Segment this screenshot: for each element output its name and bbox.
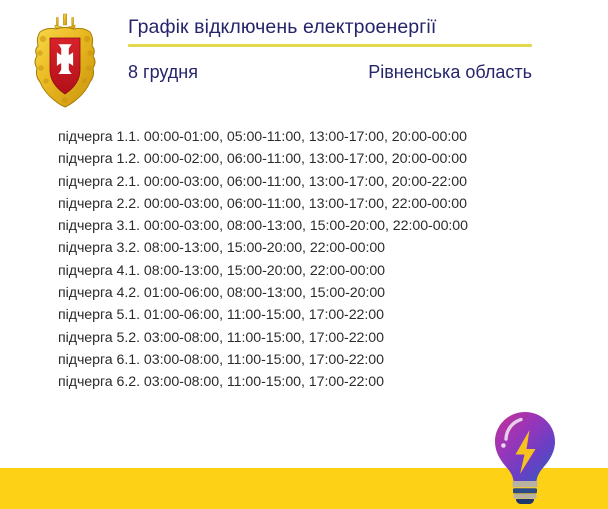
queue-time-ranges: 03:00-08:00, 11:00-15:00, 17:00-22:00 [144, 330, 384, 346]
queue-label: підчерга 3.2. [58, 240, 140, 256]
queue-time-ranges: 00:00-01:00, 05:00-11:00, 13:00-17:00, 2… [144, 129, 467, 145]
queue-label: підчерга 1.1. [58, 129, 140, 145]
outage-schedule-card: Графік відключень електроенергії 8 грудн… [0, 0, 608, 509]
rivne-oblast-coat-of-arms-icon [26, 8, 104, 112]
queue-label: підчерга 6.1. [58, 352, 140, 368]
queue-time-ranges: 08:00-13:00, 15:00-20:00, 22:00-00:00 [144, 263, 385, 279]
queue-time-ranges: 00:00-03:00, 06:00-11:00, 13:00-17:00, 2… [144, 174, 467, 190]
queue-label: підчерга 3.1. [58, 218, 140, 234]
schedule-row: підчерга 5.1. 01:00-06:00, 11:00-15:00, … [58, 304, 558, 326]
page-title: Графік відключень електроенергії [128, 14, 538, 40]
queue-label: підчерга 2.2. [58, 196, 140, 212]
schedule-row: підчерга 6.1. 03:00-08:00, 11:00-15:00, … [58, 349, 558, 371]
outage-schedule-list: підчерга 1.1. 00:00-01:00, 05:00-11:00, … [58, 126, 558, 394]
schedule-row: підчерга 5.2. 03:00-08:00, 11:00-15:00, … [58, 327, 558, 349]
title-underline-rule [128, 44, 532, 47]
schedule-row: підчерга 2.1. 00:00-03:00, 06:00-11:00, … [58, 171, 558, 193]
schedule-row: підчерга 2.2. 00:00-03:00, 06:00-11:00, … [58, 193, 558, 215]
queue-label: підчерга 4.1. [58, 263, 140, 279]
region-name: Рівненська область [368, 62, 532, 83]
queue-time-ranges: 00:00-03:00, 08:00-13:00, 15:00-20:00, 2… [144, 218, 468, 234]
schedule-row: підчерга 1.1. 00:00-01:00, 05:00-11:00, … [58, 126, 558, 148]
lightbulb-with-bolt-icon [488, 408, 562, 504]
schedule-date: 8 грудня [128, 62, 198, 83]
queue-time-ranges: 00:00-03:00, 06:00-11:00, 13:00-17:00, 2… [144, 196, 467, 212]
queue-label: підчерга 4.2. [58, 285, 140, 301]
queue-label: підчерга 5.2. [58, 330, 140, 346]
queue-time-ranges: 00:00-02:00, 06:00-11:00, 13:00-17:00, 2… [144, 151, 467, 167]
header-text-block: Графік відключень електроенергії [128, 14, 538, 40]
schedule-row: підчерга 4.1. 08:00-13:00, 15:00-20:00, … [58, 260, 558, 282]
schedule-row: підчерга 4.2. 01:00-06:00, 08:00-13:00, … [58, 282, 558, 304]
queue-time-ranges: 01:00-06:00, 11:00-15:00, 17:00-22:00 [144, 307, 384, 323]
schedule-row: підчерга 1.2. 00:00-02:00, 06:00-11:00, … [58, 148, 558, 170]
queue-time-ranges: 03:00-08:00, 11:00-15:00, 17:00-22:00 [144, 374, 384, 390]
schedule-row: підчерга 3.1. 00:00-03:00, 08:00-13:00, … [58, 215, 558, 237]
queue-label: підчерга 5.1. [58, 307, 140, 323]
schedule-row: підчерга 3.2. 08:00-13:00, 15:00-20:00, … [58, 237, 558, 259]
subheader: 8 грудня Рівненська область [128, 62, 532, 83]
queue-time-ranges: 08:00-13:00, 15:00-20:00, 22:00-00:00 [144, 240, 385, 256]
queue-time-ranges: 01:00-06:00, 08:00-13:00, 15:00-20:00 [144, 285, 385, 301]
header: Графік відключень електроенергії 8 грудн… [0, 0, 608, 118]
queue-time-ranges: 03:00-08:00, 11:00-15:00, 17:00-22:00 [144, 352, 384, 368]
schedule-row: підчерга 6.2. 03:00-08:00, 11:00-15:00, … [58, 371, 558, 393]
queue-label: підчерга 2.1. [58, 174, 140, 190]
queue-label: підчерга 6.2. [58, 374, 140, 390]
queue-label: підчерга 1.2. [58, 151, 140, 167]
